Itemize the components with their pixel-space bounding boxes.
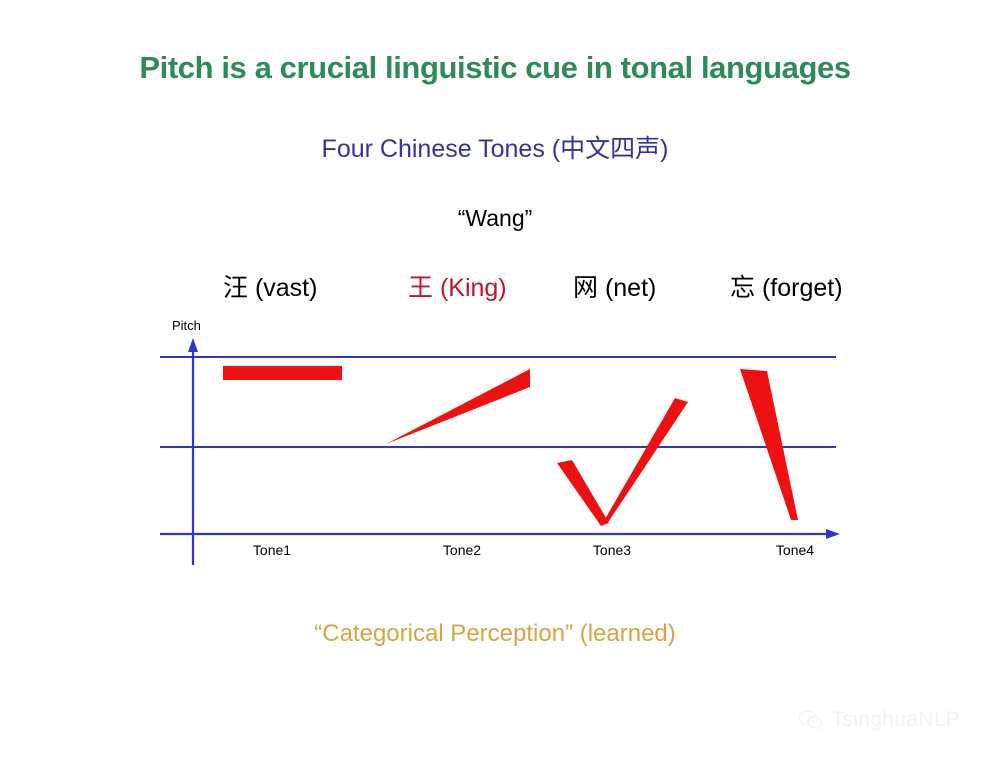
x-axis <box>160 529 840 539</box>
x-tick-label-1: Tone1 <box>253 542 291 558</box>
watermark: TsinghuaNLP <box>797 707 960 733</box>
x-tick-label-4: Tone4 <box>776 542 814 558</box>
tone-word-4: 忘 (forget) <box>730 268 843 304</box>
tone-contour-chart: Pitch Tone1 Tone2 Tone3 <box>150 310 860 580</box>
wechat-icon <box>797 707 823 733</box>
tone-contour-1 <box>223 366 342 380</box>
tone-word-1: 汪 (vast) <box>223 268 317 304</box>
y-axis-label: Pitch <box>172 318 201 333</box>
subtitle: Four Chinese Tones (中文四声) <box>0 129 990 165</box>
syllable-label: “Wang” <box>0 205 990 232</box>
x-tick-label-2: Tone2 <box>443 542 481 558</box>
tone-word-2: 王 (King) <box>408 268 507 304</box>
tone-contour-3 <box>557 398 688 526</box>
tone-word-row: 汪 (vast) 王 (King) 网 (net) 忘 (forget) <box>190 268 860 304</box>
watermark-text: TsinghuaNLP <box>832 708 960 732</box>
caption: “Categorical Perception” (learned) <box>0 620 990 648</box>
page-title: Pitch is a crucial linguistic cue in ton… <box>0 50 990 86</box>
x-tick-label-3: Tone3 <box>593 542 631 558</box>
x-axis-tick-labels: Tone1 Tone2 Tone3 Tone4 <box>253 542 814 558</box>
tone-contour-2 <box>386 369 530 444</box>
slide-root: Pitch is a crucial linguistic cue in ton… <box>0 0 990 765</box>
tone-word-3: 网 (net) <box>573 268 656 304</box>
tone-contour-4 <box>740 369 798 520</box>
y-axis <box>188 338 198 565</box>
